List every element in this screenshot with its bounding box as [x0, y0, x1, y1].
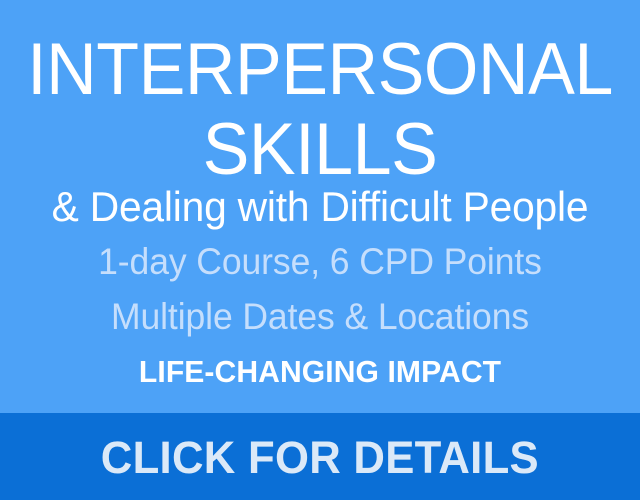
headline-line-2: SKILLS [13, 113, 627, 186]
cta-button-label: CLICK FOR DETAILS [101, 435, 539, 480]
impact-tagline: LIFE-CHANGING IMPACT [10, 356, 631, 387]
click-for-details-button[interactable]: CLICK FOR DETAILS [0, 413, 640, 500]
banner-subtitle: & Dealing with Difficult People [10, 186, 631, 228]
course-dates-locations: Multiple Dates & Locations [13, 298, 627, 335]
banner-content: INTERPERSONAL SKILLS & Dealing with Diff… [0, 0, 640, 413]
advertisement-banner: INTERPERSONAL SKILLS & Dealing with Diff… [0, 0, 640, 500]
course-duration-credits: 1-day Course, 6 CPD Points [13, 243, 627, 280]
headline-line-1: INTERPERSONAL [13, 33, 627, 106]
